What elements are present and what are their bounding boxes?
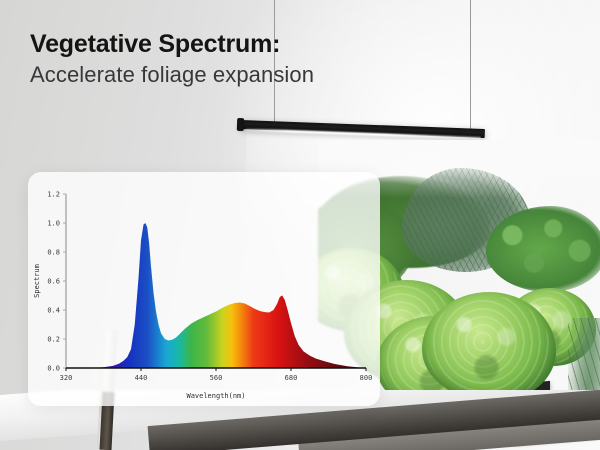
svg-text:1.2: 1.2 bbox=[47, 191, 60, 199]
spectrum-chart-card: 0.00.20.40.60.81.01.2320440560680800Wave… bbox=[28, 172, 380, 406]
lamp-cable bbox=[470, 0, 471, 131]
svg-text:0.8: 0.8 bbox=[47, 249, 60, 257]
headline-block: Vegetative Spectrum: Accelerate foliage … bbox=[30, 30, 450, 89]
page-subtitle: Accelerate foliage expansion bbox=[30, 61, 450, 89]
svg-text:320: 320 bbox=[60, 374, 73, 382]
lettuce-head bbox=[422, 292, 556, 402]
page-title: Vegetative Spectrum: bbox=[30, 30, 450, 58]
svg-text:0.0: 0.0 bbox=[47, 365, 60, 373]
svg-text:0.2: 0.2 bbox=[47, 336, 60, 344]
spectrum-chart: 0.00.20.40.60.81.01.2320440560680800Wave… bbox=[28, 172, 380, 406]
svg-text:Spectrum: Spectrum bbox=[33, 264, 41, 298]
svg-text:1.0: 1.0 bbox=[47, 220, 60, 228]
basil-plant bbox=[486, 206, 600, 292]
svg-text:560: 560 bbox=[210, 374, 223, 382]
svg-text:800: 800 bbox=[360, 374, 373, 382]
svg-text:0.6: 0.6 bbox=[47, 278, 60, 286]
svg-text:440: 440 bbox=[135, 374, 148, 382]
spectrum-chart-svg: 0.00.20.40.60.81.01.2320440560680800Wave… bbox=[28, 172, 380, 406]
svg-text:680: 680 bbox=[285, 374, 298, 382]
svg-text:Wavelength(nm): Wavelength(nm) bbox=[186, 392, 245, 400]
lamp-end-cap bbox=[237, 118, 244, 131]
svg-text:0.4: 0.4 bbox=[47, 307, 60, 315]
